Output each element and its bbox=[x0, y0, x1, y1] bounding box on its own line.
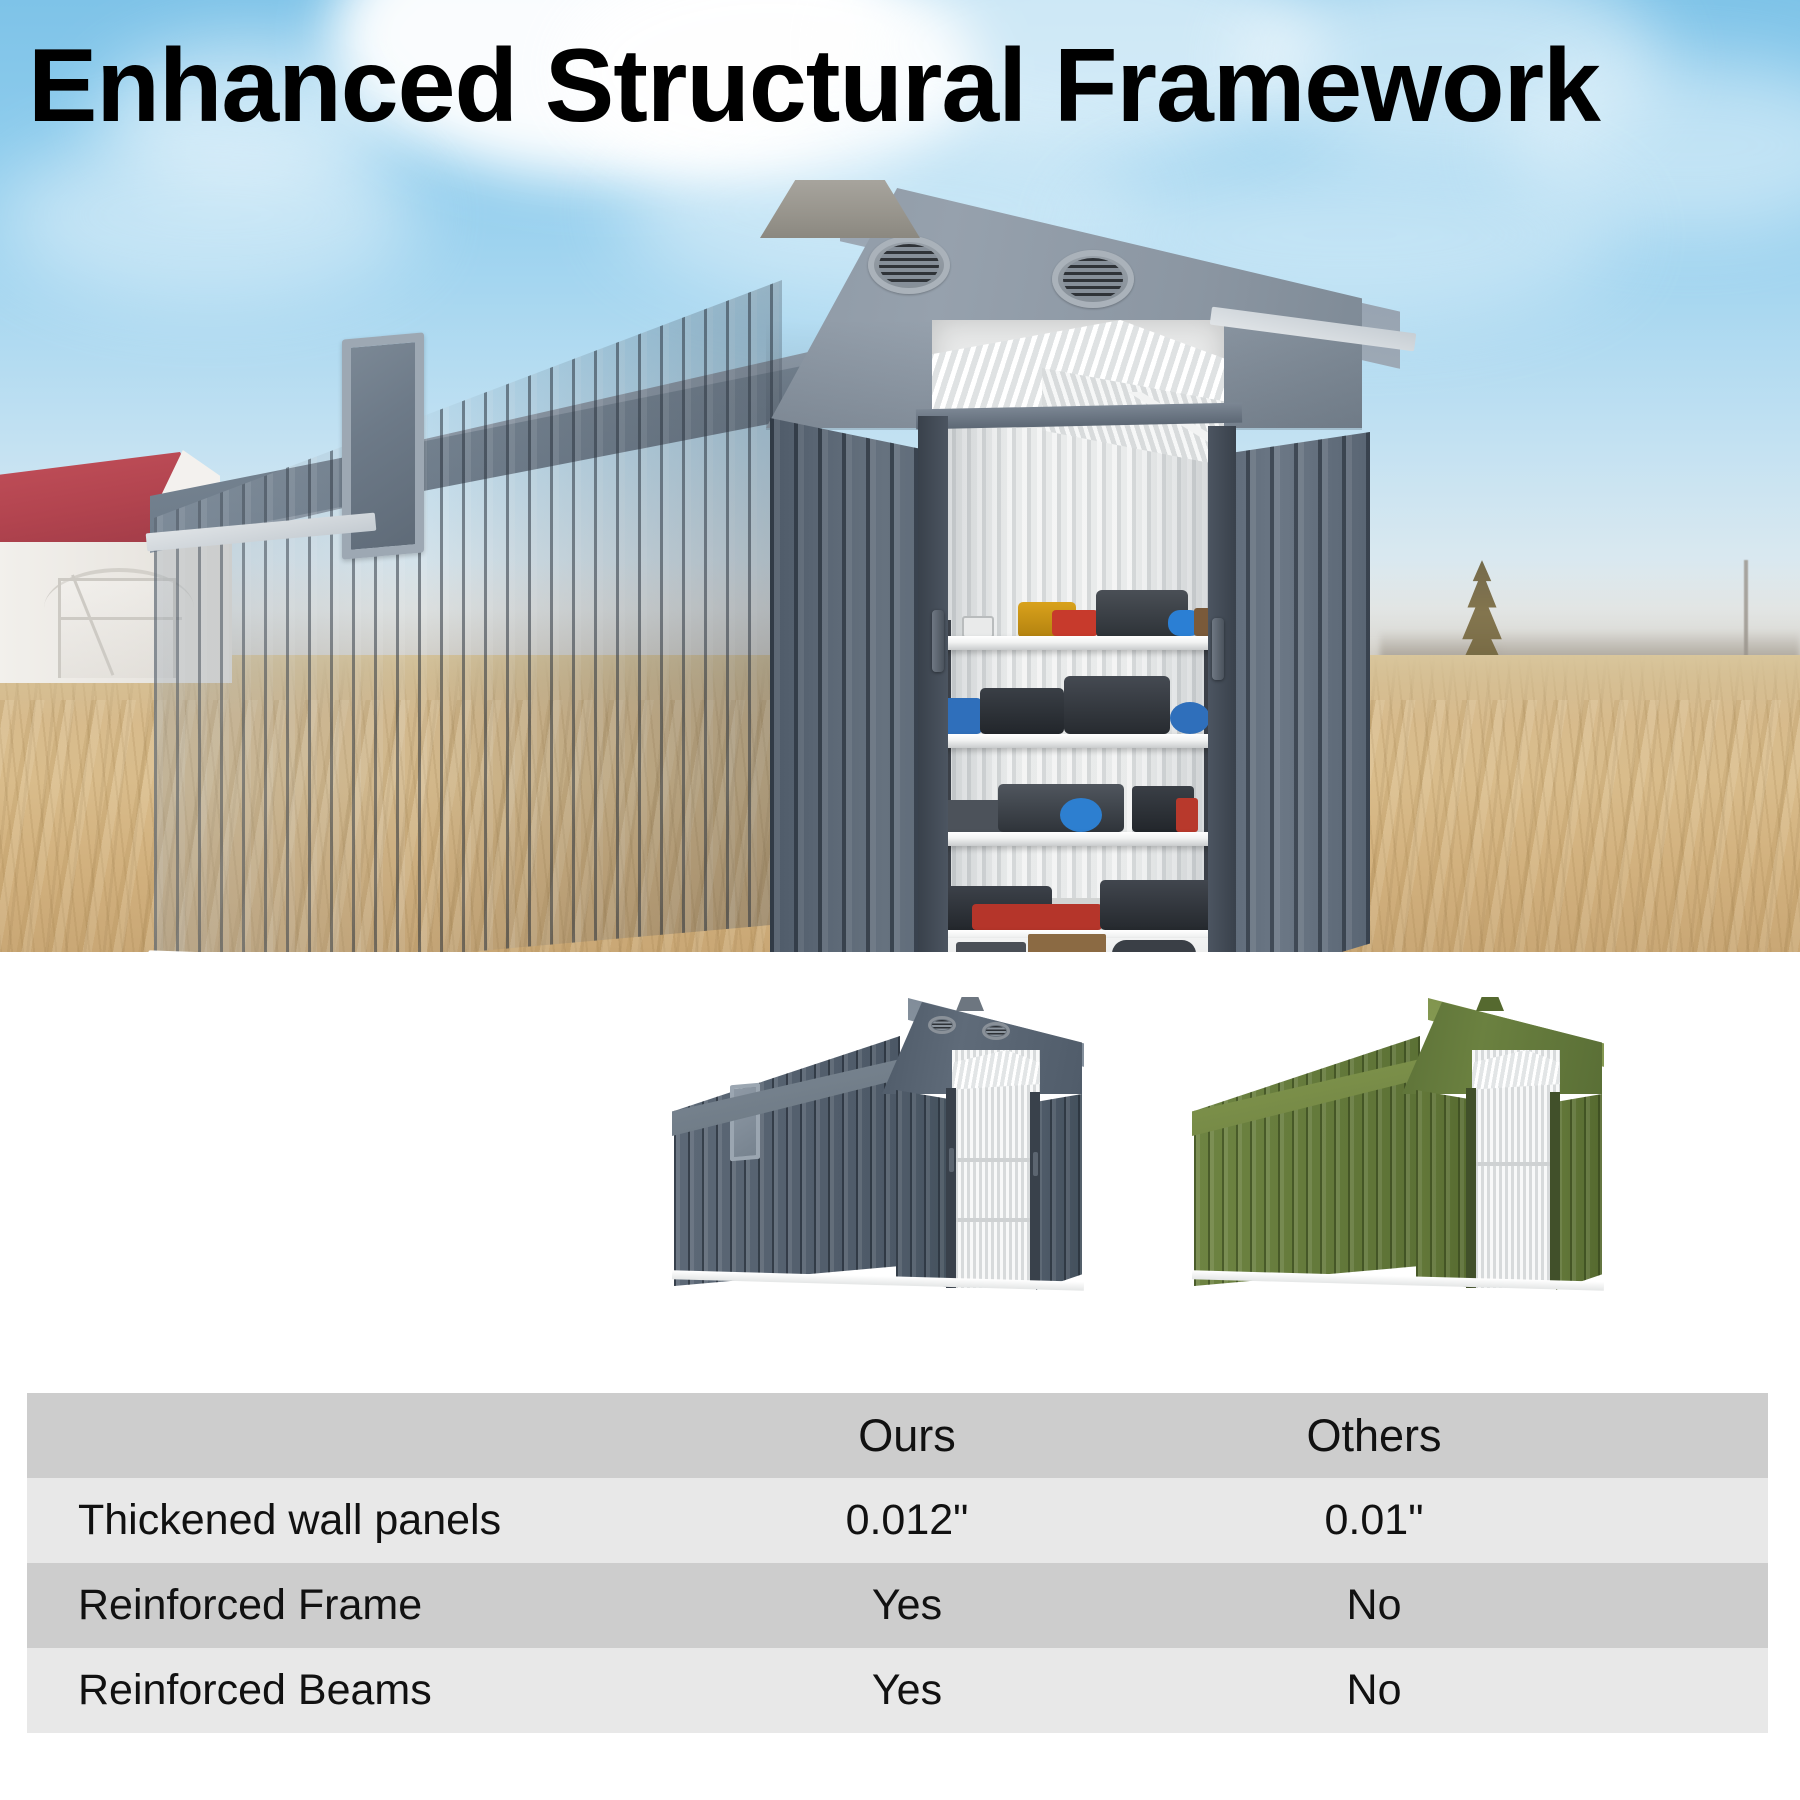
stored-item bbox=[956, 942, 1026, 952]
thumb-door-left bbox=[1466, 1088, 1476, 1288]
front-wall-left-corrugation bbox=[770, 418, 934, 952]
thumb-shelf bbox=[1472, 1162, 1560, 1166]
thumb-front-wall-right bbox=[1036, 1094, 1082, 1290]
thumb-ridge-cap bbox=[956, 997, 984, 1011]
stored-item bbox=[1060, 798, 1102, 832]
row-others-value: No bbox=[1145, 1666, 1768, 1715]
thumb-door-opening bbox=[1472, 1050, 1560, 1288]
page-title: Enhanced Structural Framework bbox=[28, 34, 1788, 138]
stored-item bbox=[1052, 610, 1098, 636]
stored-item bbox=[1112, 940, 1196, 952]
table-row: Reinforced Beams Yes No bbox=[27, 1648, 1768, 1733]
thumb-shelf bbox=[952, 1158, 1040, 1162]
sliding-door-left bbox=[918, 416, 948, 952]
thumb-door-right bbox=[1550, 1092, 1560, 1288]
thumb-shelf bbox=[952, 1218, 1040, 1222]
hero-photo: Enhanced Structural Framework bbox=[0, 0, 1800, 952]
door-handle-icon bbox=[932, 610, 944, 672]
stored-item bbox=[1170, 702, 1210, 734]
door-handle-icon bbox=[1212, 618, 1224, 680]
stored-box bbox=[1028, 934, 1106, 952]
row-ours-value: Yes bbox=[669, 1581, 1145, 1630]
stored-item bbox=[1100, 880, 1220, 930]
ridge-cap bbox=[760, 180, 920, 238]
header-others-cell: Others bbox=[1145, 1410, 1768, 1462]
row-others-value: No bbox=[1145, 1581, 1768, 1630]
thumb-vent-icon bbox=[982, 1022, 1010, 1040]
row-others-value: 0.01" bbox=[1145, 1496, 1768, 1545]
row-feature-label: Reinforced Frame bbox=[27, 1581, 669, 1630]
thumb-vent-icon bbox=[928, 1016, 956, 1034]
table-row: Reinforced Frame Yes No bbox=[27, 1563, 1768, 1648]
row-feature-label: Reinforced Beams bbox=[27, 1666, 669, 1715]
stored-item bbox=[972, 904, 1102, 930]
product-feature-page: Enhanced Structural Framework bbox=[0, 0, 1800, 1800]
product-thumbnail-row bbox=[0, 952, 1800, 1393]
stored-item bbox=[962, 616, 994, 638]
shelf bbox=[932, 734, 1224, 748]
thumb-front-wall-right bbox=[1556, 1094, 1602, 1290]
thumb-door-left bbox=[946, 1088, 956, 1288]
comparison-table: Ours Others Thickened wall panels 0.012"… bbox=[27, 1393, 1768, 1733]
row-feature-label: Thickened wall panels bbox=[27, 1496, 669, 1545]
stored-item bbox=[1176, 798, 1198, 832]
thumb-door-opening bbox=[952, 1050, 1040, 1288]
thumb-door-handle-icon bbox=[949, 1148, 954, 1172]
ours-shed-thumbnail bbox=[660, 998, 1080, 1298]
shelf bbox=[932, 832, 1224, 846]
roof-vent-icon bbox=[868, 236, 950, 294]
sliding-door-right bbox=[1208, 426, 1236, 952]
thumb-ridge-cap bbox=[1476, 997, 1504, 1011]
side-wall-shading bbox=[154, 280, 782, 952]
row-ours-value: Yes bbox=[669, 1666, 1145, 1715]
stored-item bbox=[980, 688, 1064, 734]
row-ours-value: 0.012" bbox=[669, 1496, 1145, 1545]
table-row: Thickened wall panels 0.012" 0.01" bbox=[27, 1478, 1768, 1563]
front-wall-right-corrugation bbox=[1222, 432, 1370, 952]
header-ours-cell: Ours bbox=[669, 1410, 1145, 1462]
stored-item bbox=[942, 698, 982, 734]
main-storage-shed bbox=[150, 170, 1410, 950]
others-shed-thumbnail bbox=[1180, 998, 1600, 1298]
stored-item bbox=[1064, 676, 1170, 734]
thumb-door-right bbox=[1030, 1092, 1040, 1288]
shelf bbox=[932, 636, 1224, 650]
thumb-door-handle-icon bbox=[1033, 1152, 1038, 1176]
table-header-row: Ours Others bbox=[27, 1393, 1768, 1478]
roof-vent-icon bbox=[1052, 250, 1134, 308]
